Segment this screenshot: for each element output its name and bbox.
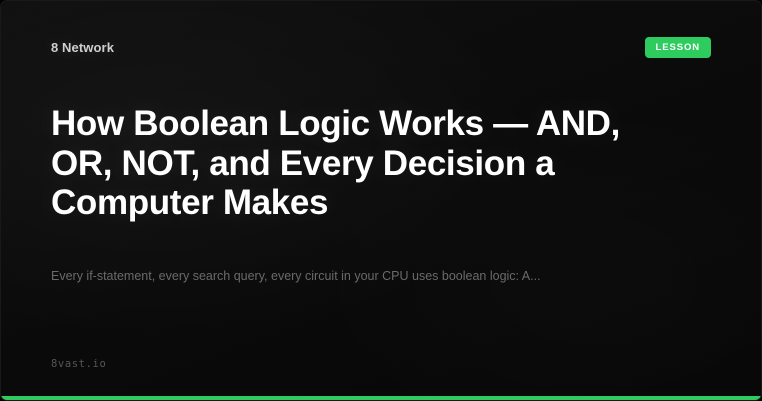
- page-title: How Boolean Logic Works — AND, OR, NOT, …: [51, 104, 651, 223]
- page-description: Every if-statement, every search query, …: [51, 267, 691, 286]
- lesson-card: 8 Network LESSON How Boolean Logic Works…: [0, 0, 762, 401]
- footer-site-label: 8vast.io: [51, 358, 106, 370]
- card-header: 8 Network LESSON: [51, 34, 711, 60]
- brand-label: 8 Network: [51, 40, 114, 55]
- brand: 8 Network: [51, 40, 114, 55]
- accent-bar: [1, 396, 761, 400]
- status-badge: LESSON: [645, 37, 711, 58]
